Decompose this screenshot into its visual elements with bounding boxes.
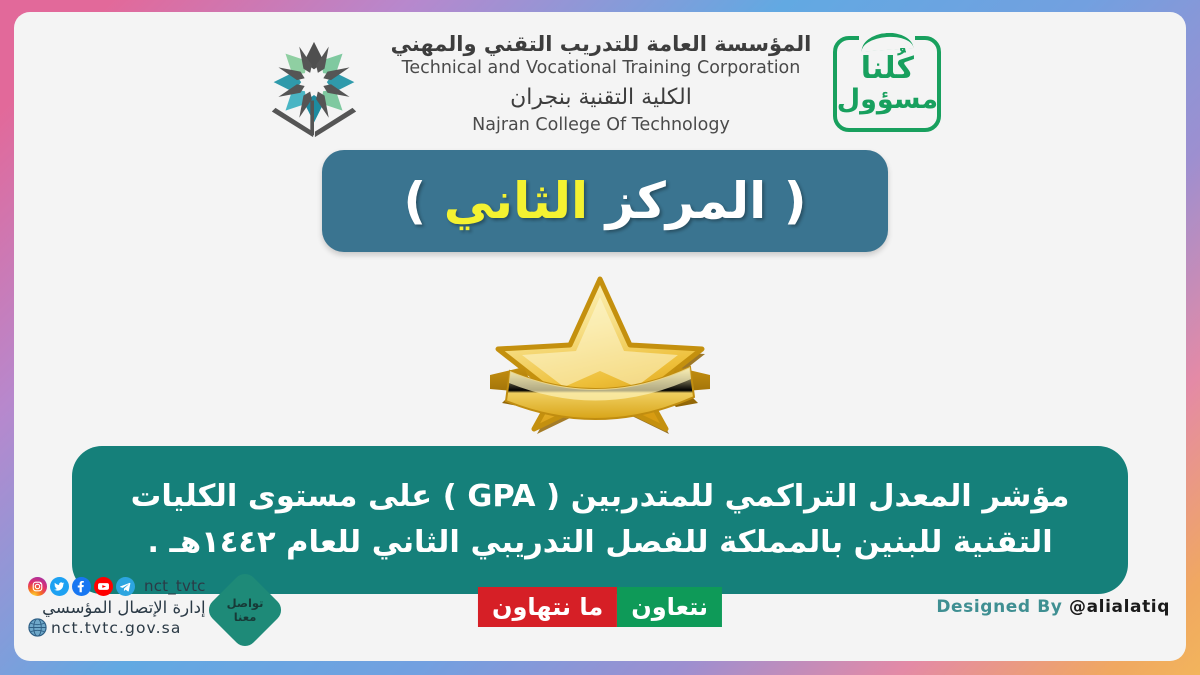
social-media-block: nct_tvtc إدارة الإتصال المؤسسي nct.tvtc.… — [28, 575, 206, 637]
twitter-icon[interactable] — [50, 577, 69, 596]
slogan-red-part: ما نتهاون — [478, 587, 617, 627]
anti-corruption-slogan: ما نتهاون نتعاون — [478, 587, 722, 627]
kulluna-line-2: مسؤول — [837, 86, 938, 114]
poster-border: كُلنا مسؤول المؤسسة العامة للتدريب التقن… — [0, 0, 1200, 675]
poster-canvas: كُلنا مسؤول المؤسسة العامة للتدريب التقن… — [14, 12, 1186, 661]
college-name-arabic: الكلية التقنية بنجران — [391, 82, 812, 114]
award-graphic — [14, 264, 1186, 440]
org-name-arabic: المؤسسة العامة للتدريب التقني والمهني — [391, 31, 812, 57]
facebook-icon[interactable] — [72, 577, 91, 596]
poster-footer: nct_tvtc إدارة الإتصال المؤسسي nct.tvtc.… — [14, 571, 1186, 661]
designer-credit: Designed By @alialatiq — [936, 597, 1170, 617]
social-icons-row: nct_tvtc — [28, 575, 206, 597]
paren-close: ) — [403, 172, 426, 230]
social-handle: nct_tvtc — [144, 577, 206, 595]
website-url: nct.tvtc.gov.sa — [51, 619, 181, 637]
announcement-text: مؤشر المعدل التراكمي للمتدربين ( GPA ) ع… — [131, 474, 1070, 567]
tvtc-star-emblem-icon — [259, 28, 369, 140]
poster-header: كُلنا مسؤول المؤسسة العامة للتدريب التقن… — [14, 18, 1186, 150]
organization-titles: المؤسسة العامة للتدريب التقني والمهني Te… — [387, 31, 816, 137]
org-name-english: Technical and Vocational Training Corpor… — [391, 57, 812, 80]
kulluna-line-1: كُلنا — [861, 54, 914, 84]
college-name-english: Najran College Of Technology — [391, 114, 812, 137]
rank-title-text: ( المركز الثاني ) — [403, 172, 806, 230]
contact-us-label: تواصل معنا — [227, 596, 264, 625]
telegram-icon[interactable] — [116, 577, 135, 596]
youtube-icon[interactable] — [94, 577, 113, 596]
instagram-icon[interactable] — [28, 577, 47, 596]
globe-icon — [28, 618, 47, 637]
department-name: إدارة الإتصال المؤسسي — [28, 598, 206, 617]
rank-word-highlight: الثاني — [444, 172, 588, 230]
slogan-green-part: نتعاون — [617, 587, 722, 627]
contact-line-2: معنا — [227, 610, 264, 624]
designer-credit-prefix: Designed By — [936, 597, 1062, 617]
paren-open: ( — [784, 172, 807, 230]
kulluna-masoul-logo: كُلنا مسؤول — [833, 36, 941, 132]
contact-us-badge[interactable]: تواصل معنا — [204, 569, 286, 651]
rank-word-white: المركز — [606, 172, 767, 230]
rank-title-banner: ( المركز الثاني ) — [322, 150, 888, 252]
announcement-line-2: التقنية للبنين بالمملكة للفصل التدريبي ا… — [131, 520, 1070, 566]
contact-line-1: تواصل — [227, 596, 264, 610]
website-row[interactable]: nct.tvtc.gov.sa — [28, 618, 206, 637]
designer-credit-handle: @alialatiq — [1069, 597, 1170, 617]
announcement-line-1: مؤشر المعدل التراكمي للمتدربين ( GPA ) ع… — [131, 474, 1070, 520]
gold-star-with-ribbon-icon — [480, 267, 720, 437]
